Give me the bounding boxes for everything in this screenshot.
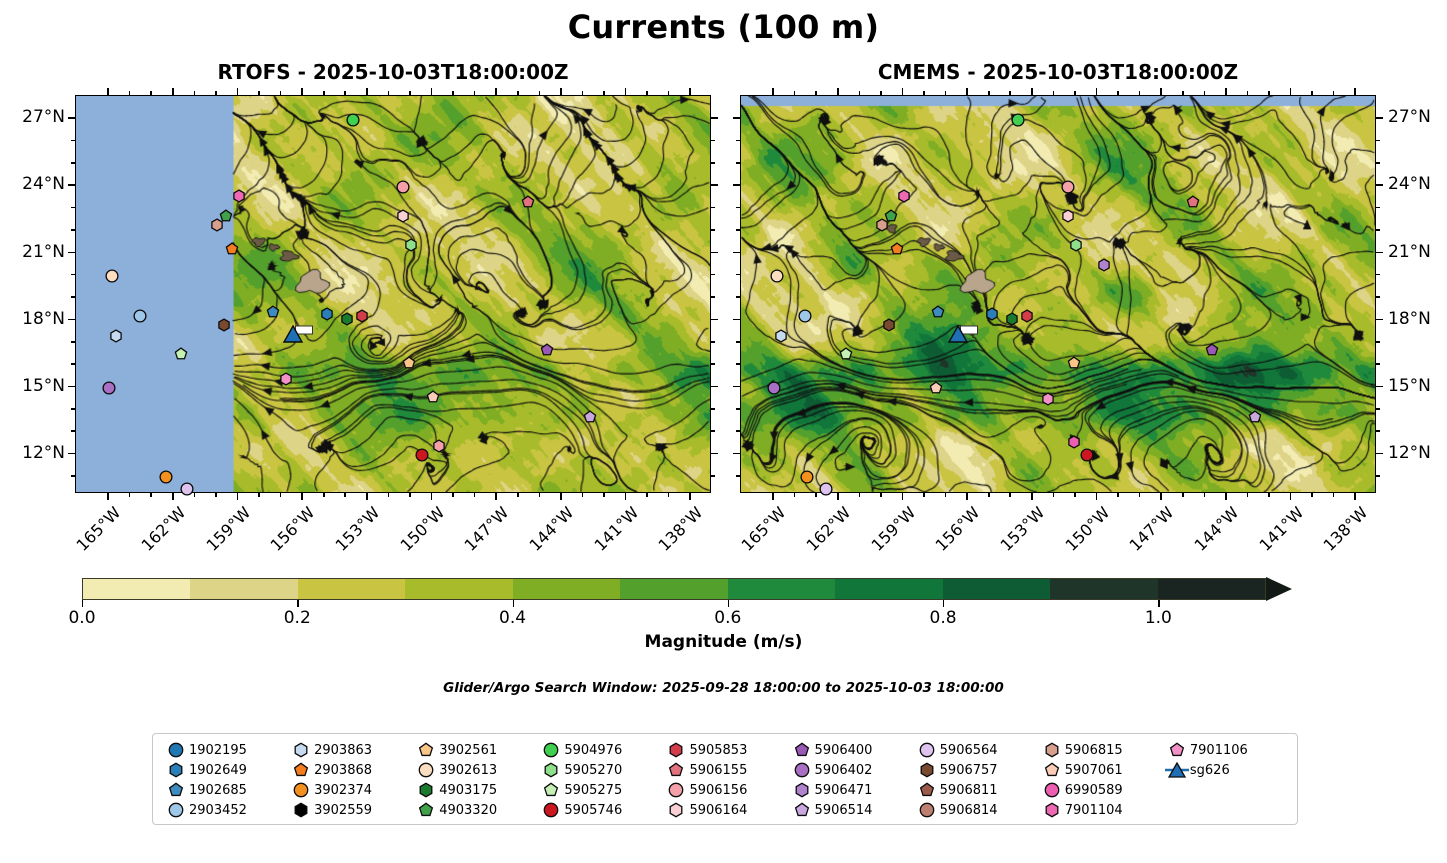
y-minor-tick: [71, 430, 75, 432]
y-axis-label: 27°N: [1388, 107, 1431, 127]
x-minor-tick: [582, 91, 584, 95]
x-minor-tick: [1139, 493, 1141, 497]
y-minor-tick: [711, 430, 715, 432]
x-tick-top: [1290, 88, 1292, 95]
x-tick-top: [431, 88, 433, 95]
colorbar-segment-4: [513, 579, 620, 599]
y-minor-tick: [1376, 229, 1380, 231]
marker-5904976[interactable]: [346, 112, 360, 126]
x-axis-label: 165°W: [69, 503, 125, 559]
legend-marker-icon: [288, 801, 314, 819]
marker-4903175[interactable]: [1004, 311, 1018, 325]
legend-item-label: 5905853: [689, 743, 747, 758]
legend-item-5906164[interactable]: 5906164: [663, 800, 788, 820]
y-minor-tick: [71, 162, 75, 164]
marker-1902685[interactable]: [266, 305, 280, 319]
marker-3902561[interactable]: [1067, 356, 1081, 370]
x-tick: [172, 493, 174, 500]
rtofs-map-panel[interactable]: [75, 95, 711, 493]
marker-5905270[interactable]: [1069, 238, 1083, 252]
x-tick: [1225, 493, 1227, 500]
x-axis-label: 141°W: [1251, 503, 1307, 559]
marker-5905746[interactable]: [1080, 448, 1094, 462]
legend-item-label: 5906156: [689, 783, 747, 798]
x-tick: [772, 493, 774, 500]
x-axis-label: 165°W: [734, 503, 790, 559]
marker-5906815[interactable]: [210, 217, 224, 231]
x-axis-label: 144°W: [1187, 503, 1243, 559]
y-minor-tick: [71, 363, 75, 365]
colorbar-segment-10: [1158, 579, 1265, 599]
colorbar-tick-label: 0.2: [284, 608, 311, 628]
x-axis-label: 147°W: [457, 503, 513, 559]
y-tick: [68, 453, 75, 455]
cmems-map-panel[interactable]: [740, 95, 1376, 493]
marker-7901104[interactable]: [232, 188, 246, 202]
legend-item-label: 5906814: [940, 803, 998, 818]
y-minor-tick: [711, 296, 715, 298]
y-minor-tick: [1376, 274, 1380, 276]
legend-item-2903452[interactable]: 2903452: [163, 800, 288, 820]
y-tick: [733, 252, 740, 254]
marker-5906402[interactable]: [102, 381, 116, 395]
y-axis-label: 18°N: [0, 309, 65, 329]
x-tick: [966, 493, 968, 500]
x-tick: [495, 493, 497, 500]
search-window-caption: Glider/Argo Search Window: 2025-09-28 18…: [0, 680, 1447, 696]
x-minor-tick: [452, 91, 454, 95]
marker-5906156b[interactable]: [432, 439, 446, 453]
x-minor-tick: [1139, 91, 1141, 95]
legend-item-label: 4903175: [439, 783, 497, 798]
legend-item-label: 5906514: [815, 803, 873, 818]
colorbar-segment-6: [728, 579, 835, 599]
y-tick: [711, 386, 718, 388]
colorbar-segment-9: [1050, 579, 1157, 599]
legend-item-label: 5905270: [564, 763, 622, 778]
marker-2903863[interactable]: [774, 329, 788, 343]
legend-item-5906757[interactable]: 5906757: [914, 760, 1039, 780]
x-minor-tick: [517, 91, 519, 95]
legend-item-label: 3902613: [439, 763, 497, 778]
colorbar-tick: [513, 600, 514, 607]
y-tick: [68, 252, 75, 254]
legend-item-label: 5906155: [689, 763, 747, 778]
y-tick: [1376, 386, 1383, 388]
legend-marker-icon: [163, 801, 189, 819]
legend-item-label: 5905746: [564, 803, 622, 818]
legend-item-label: 5906757: [940, 763, 998, 778]
y-minor-tick: [71, 341, 75, 343]
cmems-panel-title: CMEMS - 2025-10-03T18:00:00Z: [740, 60, 1376, 84]
y-minor-tick: [711, 162, 715, 164]
x-minor-tick: [859, 493, 861, 497]
x-axis-label: 153°W: [328, 503, 384, 559]
marker-2903863[interactable]: [109, 329, 123, 343]
x-tick: [1160, 493, 1162, 500]
marker-3902561[interactable]: [402, 356, 416, 370]
legend-marker-icon: [413, 741, 439, 759]
x-minor-tick: [1311, 91, 1313, 95]
marker-5906514[interactable]: [1248, 410, 1262, 424]
marker-5906757[interactable]: [882, 318, 896, 332]
marker-5906400[interactable]: [1205, 343, 1219, 357]
legend-item-5906471[interactable]: 5906471: [789, 780, 914, 800]
legend-item-label: 3902561: [439, 743, 497, 758]
y-minor-tick: [71, 207, 75, 209]
colorbar-segment-2: [298, 579, 405, 599]
x-tick-top: [1031, 88, 1033, 95]
marker-5905853[interactable]: [355, 309, 369, 323]
legend-item-label: 1902649: [189, 763, 247, 778]
marker-5906514[interactable]: [583, 410, 597, 424]
y-minor-tick: [71, 408, 75, 410]
legend-item-4903320[interactable]: 4903320: [413, 800, 538, 820]
rtofs-panel-title: RTOFS - 2025-10-03T18:00:00Z: [75, 60, 711, 84]
y-minor-tick: [71, 475, 75, 477]
legend-marker-icon: [914, 801, 940, 819]
colorbar-tick: [728, 600, 729, 607]
x-minor-tick: [815, 91, 817, 95]
colorbar-tick: [82, 600, 83, 607]
colorbar-segment-7: [835, 579, 942, 599]
legend-marker-icon: [288, 761, 314, 779]
marker-3902374[interactable]: [158, 470, 172, 484]
x-axis-label: 159°W: [198, 503, 254, 559]
legend-marker-icon: [789, 801, 815, 819]
legend-item-5905270[interactable]: 5905270: [538, 760, 663, 780]
legend-marker-icon: [1039, 801, 1065, 819]
legend-marker-icon: [538, 761, 564, 779]
marker-1902649[interactable]: [985, 307, 999, 321]
marker-5906757[interactable]: [217, 318, 231, 332]
legend-item-1902685[interactable]: 1902685: [163, 780, 288, 800]
marker-7901106[interactable]: [279, 372, 293, 386]
x-minor-tick: [215, 91, 217, 95]
y-minor-tick: [711, 408, 715, 410]
x-tick-top: [495, 88, 497, 95]
colorbar-tick-label: 1.0: [1145, 608, 1172, 628]
legend-marker-icon: [663, 781, 689, 799]
y-minor-tick: [736, 229, 740, 231]
colorbar-tick: [297, 600, 298, 607]
x-axis-label: 162°W: [134, 503, 190, 559]
marker-4903175[interactable]: [339, 311, 353, 325]
y-tick: [1376, 252, 1383, 254]
legend-item-7901106[interactable]: 7901106: [1164, 740, 1289, 760]
colorbar-segment-1: [190, 579, 297, 599]
legend-marker-icon: [1039, 781, 1065, 799]
y-tick: [711, 252, 718, 254]
colorbar: [82, 578, 1314, 600]
y-minor-tick: [736, 341, 740, 343]
x-tick-top: [837, 88, 839, 95]
y-tick: [711, 453, 718, 455]
x-minor-tick: [945, 91, 947, 95]
marker-5905275[interactable]: [838, 347, 852, 361]
marker-5906155[interactable]: [1186, 195, 1200, 209]
figure-canvas: Currents (100 m) RTOFS - 2025-10-03T18:0…: [0, 0, 1447, 863]
legend-item-2903868[interactable]: 2903868: [288, 760, 413, 780]
x-axis-label: 156°W: [263, 503, 319, 559]
x-minor-tick: [388, 91, 390, 95]
x-minor-tick: [668, 493, 670, 497]
x-minor-tick: [194, 91, 196, 95]
y-minor-tick: [736, 274, 740, 276]
marker-5906402[interactable]: [767, 381, 781, 395]
legend-marker-icon: [663, 801, 689, 819]
legend-item-label: 5906564: [940, 743, 998, 758]
y-axis-label: 24°N: [0, 174, 65, 194]
legend-item-1902649[interactable]: 1902649: [163, 760, 288, 780]
colorbar-label: Magnitude (m/s): [0, 632, 1447, 652]
marker-5906155[interactable]: [521, 195, 535, 209]
y-minor-tick: [711, 274, 715, 276]
marker-5906400[interactable]: [540, 343, 554, 357]
legend-item-5906814[interactable]: 5906814: [914, 800, 1039, 820]
legend-marker-icon: [789, 741, 815, 759]
y-minor-tick: [736, 363, 740, 365]
legend-marker-icon: [1164, 761, 1190, 779]
x-tick-top: [1225, 88, 1227, 95]
legend-item-label: 5907061: [1065, 763, 1123, 778]
x-tick-top: [772, 88, 774, 95]
marker-3902613[interactable]: [769, 269, 783, 283]
x-minor-tick: [474, 493, 476, 497]
y-tick: [1376, 319, 1383, 321]
y-tick: [711, 117, 718, 119]
x-tick-top: [301, 88, 303, 95]
legend-item-label: 1902195: [189, 743, 247, 758]
x-tick: [625, 493, 627, 500]
legend-item-sg626[interactable]: sg626: [1164, 760, 1289, 780]
y-tick: [68, 117, 75, 119]
x-minor-tick: [1268, 493, 1270, 497]
y-minor-tick: [711, 475, 715, 477]
x-minor-tick: [1074, 493, 1076, 497]
y-minor-tick: [1376, 140, 1380, 142]
x-minor-tick: [880, 493, 882, 497]
legend-item-7901104[interactable]: 7901104: [1039, 800, 1164, 820]
marker-3902613[interactable]: [104, 269, 118, 283]
x-minor-tick: [988, 493, 990, 497]
legend-item-label: 2903863: [314, 743, 372, 758]
x-minor-tick: [1182, 91, 1184, 95]
legend-item-5906156[interactable]: 5906156: [663, 780, 788, 800]
y-tick: [733, 453, 740, 455]
x-minor-tick: [1247, 91, 1249, 95]
x-minor-tick: [1074, 91, 1076, 95]
y-minor-tick: [1376, 341, 1380, 343]
y-minor-tick: [711, 341, 715, 343]
marker-5907061[interactable]: [929, 381, 943, 395]
x-minor-tick: [129, 493, 131, 497]
legend-item-5906815[interactable]: 5906815: [1039, 740, 1164, 760]
x-tick-top: [366, 88, 368, 95]
y-tick: [1376, 184, 1383, 186]
legend-item-5905853[interactable]: 5905853: [663, 740, 788, 760]
legend-item-label: 5906400: [815, 743, 873, 758]
marker-sg626[interactable]: [947, 324, 969, 344]
x-minor-tick: [988, 91, 990, 95]
colorbar-tick: [943, 600, 944, 607]
y-axis-label: 18°N: [1388, 309, 1431, 329]
legend-marker-icon: [789, 781, 815, 799]
marker-5906156[interactable]: [395, 179, 409, 193]
marker-5905270[interactable]: [404, 238, 418, 252]
marker-7901106[interactable]: [1041, 392, 1055, 406]
marker-5904976[interactable]: [1011, 112, 1025, 126]
marker-5906164[interactable]: [1060, 209, 1074, 223]
legend-grid: 1902195 1902649 1902685 2903452 2903863 …: [163, 740, 1289, 820]
x-axis-label: 138°W: [1316, 503, 1372, 559]
marker-5906164[interactable]: [395, 209, 409, 223]
legend-item-5907061[interactable]: 5907061: [1039, 760, 1164, 780]
y-minor-tick: [736, 162, 740, 164]
marker-1902685[interactable]: [931, 305, 945, 319]
x-tick-top: [1354, 88, 1356, 95]
legend-item-5906514[interactable]: 5906514: [789, 800, 914, 820]
legend-item-3902374[interactable]: 3902374: [288, 780, 413, 800]
marker-7901104[interactable]: [897, 188, 911, 202]
legend-item-5906400[interactable]: 5906400: [789, 740, 914, 760]
x-tick-top: [107, 88, 109, 95]
marker-2903452[interactable]: [132, 309, 146, 323]
colorbar-segment-8: [943, 579, 1050, 599]
marker-5907061[interactable]: [426, 390, 440, 404]
x-minor-tick: [323, 493, 325, 497]
x-tick-top: [560, 88, 562, 95]
legend-item-5905746[interactable]: 5905746: [538, 800, 663, 820]
x-minor-tick: [1333, 91, 1335, 95]
legend-item-5906564[interactable]: 5906564: [914, 740, 1039, 760]
x-minor-tick: [815, 493, 817, 497]
legend-item-5905275[interactable]: 5905275: [538, 780, 663, 800]
y-minor-tick: [71, 140, 75, 142]
x-minor-tick: [215, 493, 217, 497]
y-minor-tick: [71, 229, 75, 231]
legend-marker-icon: [538, 781, 564, 799]
legend-marker-icon: [163, 781, 189, 799]
legend-marker-icon: [1164, 741, 1190, 759]
marker-3902374[interactable]: [800, 470, 814, 484]
cmems-current-magnitude-field: [741, 96, 1375, 492]
marker-sg626[interactable]: [282, 324, 304, 344]
marker-2903868[interactable]: [225, 242, 239, 256]
x-minor-tick: [539, 91, 541, 95]
legend-item-label: 5906811: [940, 783, 998, 798]
legend-item-5906155[interactable]: 5906155: [663, 760, 788, 780]
x-axis-label: 141°W: [586, 503, 642, 559]
x-minor-tick: [258, 91, 260, 95]
y-tick: [68, 319, 75, 321]
legend-marker-icon: [163, 761, 189, 779]
legend-item-4903175[interactable]: 4903175: [413, 780, 538, 800]
marker-2903868[interactable]: [890, 242, 904, 256]
legend-item-6990589[interactable]: 6990589: [1039, 780, 1164, 800]
legend-item-5906402[interactable]: 5906402: [789, 760, 914, 780]
x-minor-tick: [1333, 493, 1335, 497]
legend-item-label: 2903452: [189, 803, 247, 818]
legend-item-3902559[interactable]: 3902559: [288, 800, 413, 820]
x-tick: [237, 493, 239, 500]
marker-1902649[interactable]: [320, 307, 334, 321]
marker-5906156[interactable]: [1060, 179, 1074, 193]
y-tick: [68, 386, 75, 388]
legend-item-1902195[interactable]: 1902195: [163, 740, 288, 760]
y-axis-label: 24°N: [1388, 174, 1431, 194]
legend-marker-icon: [1039, 761, 1065, 779]
y-minor-tick: [1376, 207, 1380, 209]
y-tick: [68, 184, 75, 186]
x-minor-tick: [794, 91, 796, 95]
colorbar-tick-label: 0.6: [714, 608, 741, 628]
marker-5906564[interactable]: [180, 481, 194, 495]
legend-marker-icon: [538, 801, 564, 819]
legend-item-label: 5906815: [1065, 743, 1123, 758]
marker-5905746[interactable]: [415, 448, 429, 462]
x-tick-top: [1160, 88, 1162, 95]
marker-5906471[interactable]: [1097, 258, 1111, 272]
colorbar-tick-label: 0.8: [930, 608, 957, 628]
x-minor-tick: [859, 91, 861, 95]
x-axis-label: 150°W: [392, 503, 448, 559]
marker-5906564[interactable]: [819, 481, 833, 495]
x-minor-tick: [646, 91, 648, 95]
legend-marker-icon: [288, 781, 314, 799]
rtofs-current-magnitude-field: [76, 96, 710, 492]
y-minor-tick: [736, 207, 740, 209]
x-minor-tick: [646, 493, 648, 497]
legend-item-label: 1902685: [189, 783, 247, 798]
x-minor-tick: [517, 493, 519, 497]
y-minor-tick: [736, 140, 740, 142]
x-minor-tick: [923, 493, 925, 497]
x-minor-tick: [409, 91, 411, 95]
float-legend[interactable]: 1902195 1902649 1902685 2903452 2903863 …: [152, 733, 1298, 825]
x-minor-tick: [1204, 493, 1206, 497]
x-tick: [1290, 493, 1292, 500]
x-tick: [1096, 493, 1098, 500]
legend-item-3902561[interactable]: 3902561: [413, 740, 538, 760]
page-title: Currents (100 m): [0, 8, 1447, 46]
x-minor-tick: [388, 493, 390, 497]
legend-item-label: 5906402: [815, 763, 873, 778]
x-tick: [107, 493, 109, 500]
y-minor-tick: [736, 408, 740, 410]
legend-item-2903863[interactable]: 2903863: [288, 740, 413, 760]
y-minor-tick: [1376, 408, 1380, 410]
x-minor-tick: [344, 91, 346, 95]
x-minor-tick: [150, 493, 152, 497]
marker-5905275[interactable]: [173, 347, 187, 361]
x-minor-tick: [280, 91, 282, 95]
legend-item-3902613[interactable]: 3902613: [413, 760, 538, 780]
legend-item-5906811[interactable]: 5906811: [914, 780, 1039, 800]
legend-item-label: 5904976: [564, 743, 622, 758]
marker-2903452[interactable]: [797, 309, 811, 323]
x-axis-label: 153°W: [993, 503, 1049, 559]
y-minor-tick: [1376, 430, 1380, 432]
x-minor-tick: [582, 493, 584, 497]
marker-6990589[interactable]: [1067, 434, 1081, 448]
y-tick: [733, 184, 740, 186]
legend-item-5904976[interactable]: 5904976: [538, 740, 663, 760]
x-tick: [560, 493, 562, 500]
marker-5905853[interactable]: [1020, 309, 1034, 323]
colorbar-gradient: [82, 578, 1266, 600]
marker-5906815[interactable]: [875, 217, 889, 231]
